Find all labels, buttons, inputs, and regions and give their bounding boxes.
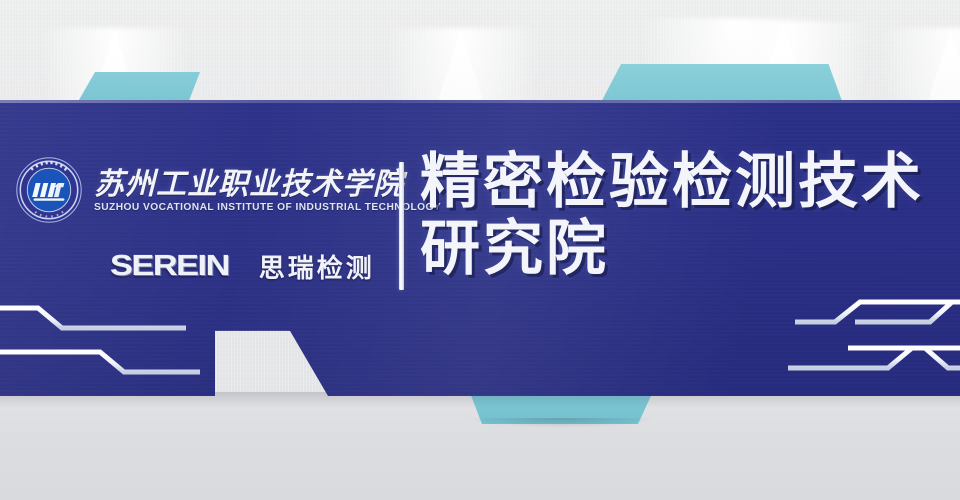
school-name-block: 苏州工业职业技术学院 SUZHOU VOCATIONAL INSTITUTE O… bbox=[94, 167, 441, 213]
serein-wordmark: SEREIN bbox=[110, 250, 229, 283]
school-name-cn: 苏州工业职业技术学院 bbox=[94, 169, 441, 201]
panel-content: 苏州工业职业技术学院 SUZHOU VOCATIONAL INSTITUTE O… bbox=[0, 100, 960, 396]
headline-line-1: 精密检验检测技术 bbox=[420, 148, 950, 215]
institute-headline: 精密检验检测技术 研究院 bbox=[420, 148, 950, 282]
serein-wordmark-cn: 思瑞检测 bbox=[259, 248, 375, 285]
vertical-divider bbox=[399, 162, 404, 290]
school-crest-icon bbox=[14, 155, 84, 225]
partner-brand-block: SEREIN 思瑞检测 bbox=[110, 248, 375, 285]
school-brand-block: 苏州工业职业技术学院 SUZHOU VOCATIONAL INSTITUTE O… bbox=[14, 155, 394, 225]
school-name-en: SUZHOU VOCATIONAL INSTITUTE OF INDUSTRIA… bbox=[94, 202, 441, 213]
teal-bottom-shadow bbox=[466, 418, 656, 428]
headline-line-2: 研究院 bbox=[420, 215, 950, 282]
signage-scene: 苏州工业职业技术学院 SUZHOU VOCATIONAL INSTITUTE O… bbox=[0, 0, 960, 500]
